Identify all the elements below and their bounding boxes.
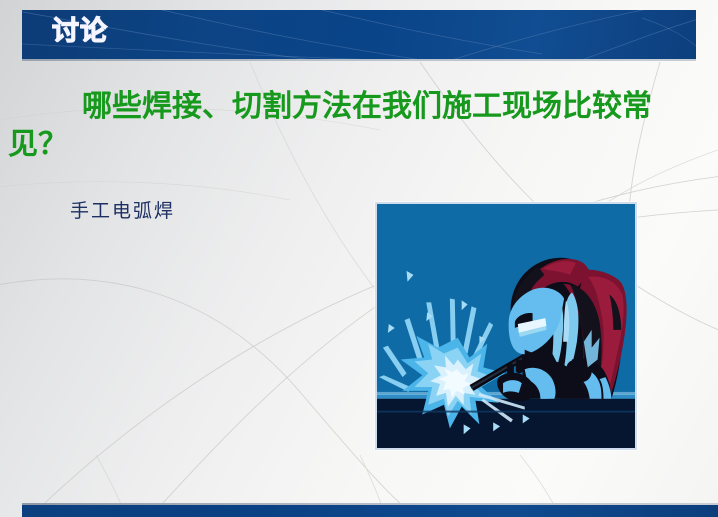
page-title: 讨论: [52, 16, 108, 48]
welding-method-label: 手工电弧焊: [70, 198, 175, 224]
presentation-slide: 讨论 哪些焊接、切割方法在我们施工现场比较常见？ 手工电弧焊: [0, 0, 718, 517]
header-underline: [22, 59, 696, 61]
welder-illustration-icon: [377, 204, 635, 448]
header-streak-decoration: [22, 10, 696, 60]
bottom-accent-bar: [22, 505, 718, 517]
welder-image: [375, 202, 637, 450]
main-question-heading: 哪些焊接、切割方法在我们施工现场比较常见？: [8, 88, 668, 164]
slide-title-band: [22, 10, 696, 60]
